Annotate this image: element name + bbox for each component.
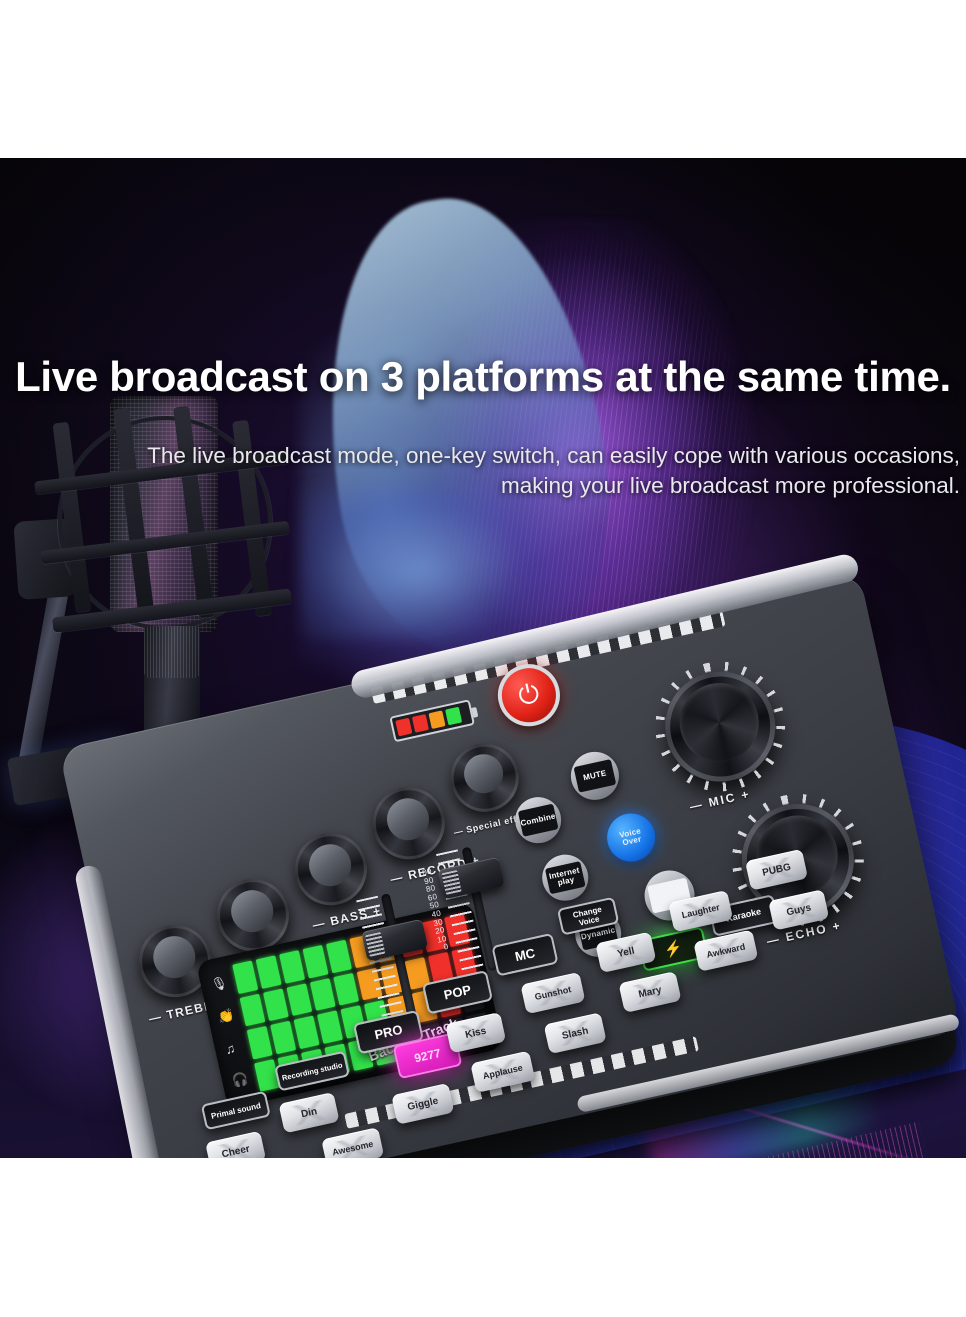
mic-plus: + [740, 787, 752, 803]
pad-guys-label: Guys [785, 902, 812, 918]
mic-label: MIC [707, 790, 737, 810]
led-cell [326, 940, 352, 973]
mute-button[interactable]: MUTE [566, 747, 623, 804]
page-title: Live broadcast on 3 platforms at the sam… [0, 353, 966, 401]
echo-plus: + [831, 918, 843, 934]
pad-din-label: Din [300, 1106, 318, 1120]
pad-pubg-label: PUBG [761, 861, 792, 878]
voice-over-button-label: Voice Over [609, 820, 652, 855]
internet-play-button[interactable]: Internet play [538, 850, 593, 905]
primal-sound-button[interactable]: Primal sound [201, 1091, 271, 1131]
battery-cell [412, 714, 429, 733]
subtitle-line-2: making your live broadcast more professi… [55, 471, 960, 501]
battery-cell [445, 707, 462, 726]
bass-minus: — [311, 916, 327, 933]
microphone-icon: 🎙 [210, 975, 230, 994]
led-cell [270, 1021, 296, 1054]
led-cell [286, 983, 312, 1016]
page-subtitle: The live broadcast mode, one-key switch,… [55, 441, 960, 501]
combine-button-label: Combine [517, 804, 558, 837]
pad-awkward-label: Awkward [706, 942, 747, 960]
special-effect-minus: — [453, 826, 465, 838]
pad-slash-label: Slash [561, 1025, 589, 1042]
treble-minus: — [147, 1009, 163, 1026]
mic-minus: — [688, 797, 705, 814]
special-effect-knob[interactable] [444, 737, 525, 818]
pad-awesome-label: Awesome [331, 1139, 374, 1158]
headphones-icon: 🎧 [231, 1070, 251, 1089]
pad-awesome[interactable]: Awesome [321, 1127, 384, 1158]
hero-banner: Live broadcast on 3 platforms at the sam… [0, 158, 966, 1158]
pad-cheer[interactable]: Cheer [205, 1131, 266, 1158]
pad-applause-label: Applause [482, 1063, 524, 1082]
pad-yell-label: Yell [616, 945, 635, 959]
led-cell [279, 950, 305, 983]
led-cell [293, 1016, 319, 1049]
echo-minus: — [765, 932, 782, 949]
led-cell [239, 993, 265, 1026]
pad-giggle[interactable]: Giggle [391, 1083, 454, 1125]
mic-mount-knurling [144, 626, 200, 678]
battery-cell [395, 718, 412, 737]
internet-play-button-label: Internet play [544, 861, 585, 894]
mute-button-label: MUTE [573, 759, 616, 794]
pad-slash[interactable]: Slash [544, 1012, 607, 1054]
led-cell [232, 961, 258, 994]
product-banner-page: Live broadcast on 3 platforms at the sam… [0, 0, 966, 1317]
record-minus: — [389, 870, 405, 887]
battery-cell [428, 710, 445, 729]
led-cell [255, 955, 281, 988]
pad-cheer-label: Cheer [221, 1143, 251, 1158]
pad-mary[interactable]: Mary [618, 971, 681, 1013]
pad-din[interactable]: Din [278, 1092, 339, 1133]
clap-hands-icon: 👏 [217, 1007, 237, 1026]
pad-mary-label: Mary [637, 984, 662, 1000]
led-cell [310, 978, 336, 1011]
mic-knob-indicator-dots [643, 649, 798, 804]
pad-laughter-label: Laughter [681, 902, 721, 920]
led-cell [333, 972, 359, 1005]
pad-kiss-label: Kiss [464, 1025, 487, 1040]
led-cell [263, 988, 289, 1021]
battery-indicator [389, 699, 475, 742]
led-cell [302, 945, 328, 978]
led-cell [317, 1010, 343, 1043]
subtitle-line-1: The live broadcast mode, one-key switch,… [55, 441, 960, 471]
combine-button[interactable]: Combine [511, 793, 566, 848]
pad-gunshot[interactable]: Gunshot [520, 972, 585, 1014]
music-note-icon: ♫ [224, 1039, 243, 1057]
led-cell [246, 1026, 272, 1059]
voice-over-button[interactable]: Voice Over [602, 809, 659, 866]
pad-giggle-label: Giggle [406, 1095, 439, 1112]
mc-button[interactable]: MC [491, 933, 558, 977]
pad-gunshot-label: Gunshot [534, 984, 572, 1002]
